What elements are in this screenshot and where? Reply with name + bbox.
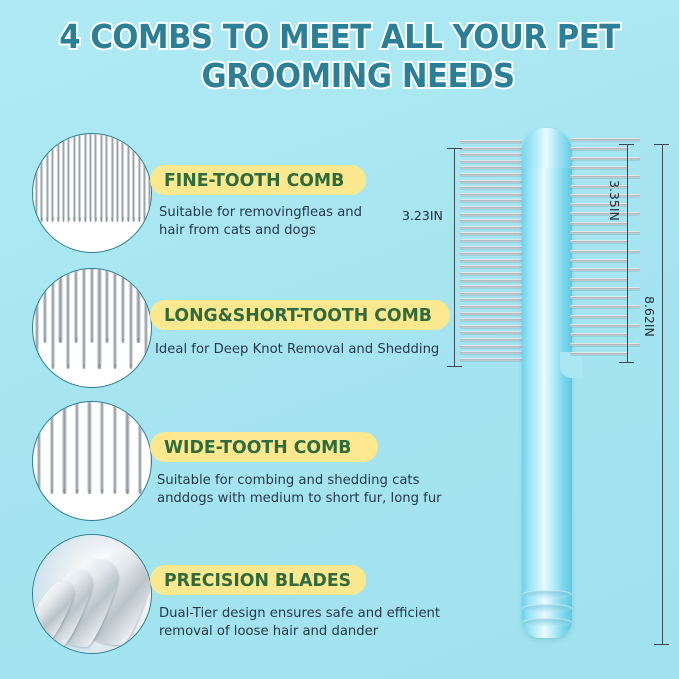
dim-label-left: 3.23IN [402,208,443,223]
long-short-tooth-comb-icon [32,268,152,388]
comb-tooth [121,269,125,343]
feature-desc-4: Dual-Tier design ensures safe and effici… [159,604,440,641]
comb-tooth [73,134,76,222]
comb-tooth [62,402,66,494]
long-short-tooth-side [570,138,642,360]
comb-tooth [87,402,91,494]
feature-title-pill-1: FINE-TOOTH COMB [150,165,366,195]
comb-tooth [113,402,117,494]
title-line-1: 4 COMBS TO MEET ALL YOUR PET [59,17,620,56]
feature-title-1: FINE-TOOTH COMB [164,170,344,191]
dim-cap-total-bottom [654,644,669,645]
comb-pin [570,287,640,290]
comb-pin [570,147,628,150]
comb-tooth [105,269,109,343]
comb-pin [460,259,522,262]
comb-pin [570,259,628,262]
feature-title-2: LONG&SHORT-TOOTH COMB [164,305,432,326]
dim-line-total [662,144,663,644]
comb-tooth [62,134,65,222]
comb-pin [570,268,640,271]
fine-tooth-comb-icon [32,133,152,253]
comb-tooth [129,269,133,369]
comb-tooth [143,134,146,222]
feature-title-pill-4: PRECISION BLADES [150,565,366,595]
comb-tooth [121,134,124,222]
comb-pin [570,138,640,141]
comb-pin [570,240,628,243]
comb-pin [460,358,522,361]
grip-ridge [522,618,572,627]
dim-cap-left-top [447,148,462,149]
dim-line-left [454,148,455,366]
comb-pin [460,166,522,169]
dim-cap-mid-bottom [619,362,634,363]
comb-tooth [51,269,55,369]
comb-tooth [78,134,81,222]
comb-pin [570,222,628,225]
precision-blades-icon [32,534,152,654]
comb-tooth [84,134,87,222]
comb-tooth [97,269,101,369]
comb-pin [460,272,522,275]
product-image: 3.23IN 3.35IN 8.62IN [400,120,679,679]
comb-pin [460,351,522,354]
comb-pin [460,279,522,282]
dim-cap-mid-top [619,144,634,145]
comb-tooth [105,134,108,222]
feature-title-pill-3: WIDE-TOOTH COMB [150,432,378,462]
comb-pin [460,219,522,222]
comb-pin [460,318,522,321]
feature-desc-2: Ideal for Deep Knot Removal and Shedding [155,340,439,358]
comb-tooth [100,402,104,494]
fine-tooth-side [460,140,524,365]
comb-pin [460,265,522,268]
grip-ridge [522,604,572,613]
comb-tooth [100,134,103,222]
comb-pin [460,239,522,242]
comb-tooth [111,134,114,222]
comb-tooth [66,269,70,369]
comb-pin [460,213,522,216]
comb-tooth [43,269,47,343]
comb-tooth [138,402,142,494]
comb-tooth [67,134,70,222]
comb-pin [460,338,522,341]
comb-handle-top [522,128,572,168]
comb-pin [460,206,522,209]
comb-pin [460,232,522,235]
comb-tooth [116,134,119,222]
comb-tooth [57,134,60,222]
comb-tooth [58,269,62,343]
comb-pin [570,250,640,253]
comb-tooth [75,402,79,494]
comb-tooth [136,269,140,343]
dim-line-mid [627,144,628,362]
comb-tooth [82,269,86,369]
comb-tooth [144,269,148,369]
comb-pin [460,147,522,150]
comb-pin [570,212,640,215]
comb-tooth [37,402,41,494]
comb-pin [570,278,628,281]
comb-tooth [46,134,49,222]
comb-pin [570,175,640,178]
feature-title-3: WIDE-TOOTH COMB [164,437,351,458]
wide-tooth-comb-icon [32,401,152,521]
comb-tooth [94,134,97,222]
dim-label-mid: 3.35IN [607,180,622,221]
comb-pin [570,352,628,355]
comb-pin [460,199,522,202]
grip-ridge [522,590,572,599]
comb-pin [460,140,522,143]
page-title: 4 COMBS TO MEET ALL YOUR PET GROOMING NE… [24,18,655,96]
comb-pin [460,186,522,189]
dim-label-total: 8.62IN [642,296,657,337]
comb-tooth [51,134,54,222]
dim-cap-total-top [654,144,669,145]
feature-desc-3: Suitable for combing and shedding cats a… [157,471,442,508]
comb-pin [460,252,522,255]
comb-tooth [35,134,38,222]
comb-pin [460,193,522,196]
comb-pin [570,333,628,336]
comb-pin [460,298,522,301]
comb-handle [522,128,572,638]
comb-tooth [90,269,94,343]
comb-pin [570,305,640,308]
infographic-canvas: 4 COMBS TO MEET ALL YOUR PET GROOMING NE… [0,0,679,679]
comb-pin [570,343,640,346]
comb-pin [460,180,522,183]
comb-pin [460,160,522,163]
comb-pin [460,345,522,348]
comb-tooth [127,134,130,222]
comb-tooth [40,134,43,222]
comb-pin [570,315,628,318]
comb-pin [460,153,522,156]
comb-pin [460,226,522,229]
comb-tooth [132,134,135,222]
comb-pin [460,331,522,334]
comb-tooth [89,134,92,222]
comb-pin [460,305,522,308]
comb-pin [570,194,640,197]
feature-title-4: PRECISION BLADES [164,570,351,591]
comb-pin [460,325,522,328]
comb-pin [570,166,628,169]
comb-tooth [125,402,129,494]
comb-pin [460,312,522,315]
comb-pin [460,173,522,176]
feature-desc-1: Suitable for removingfleas and hair from… [159,203,362,240]
comb-pin [570,296,628,299]
comb-pin [460,292,522,295]
comb-tooth [74,269,78,343]
comb-pin [460,285,522,288]
comb-tooth [113,269,117,369]
comb-pin [570,157,640,160]
comb-pin [460,246,522,249]
comb-tooth [35,269,39,369]
comb-pin [570,324,640,327]
title-line-2: GROOMING NEEDS [24,57,655,96]
comb-tooth [50,402,54,494]
dim-cap-left-bottom [447,366,462,367]
comb-tooth [138,134,141,222]
comb-pin [570,231,640,234]
